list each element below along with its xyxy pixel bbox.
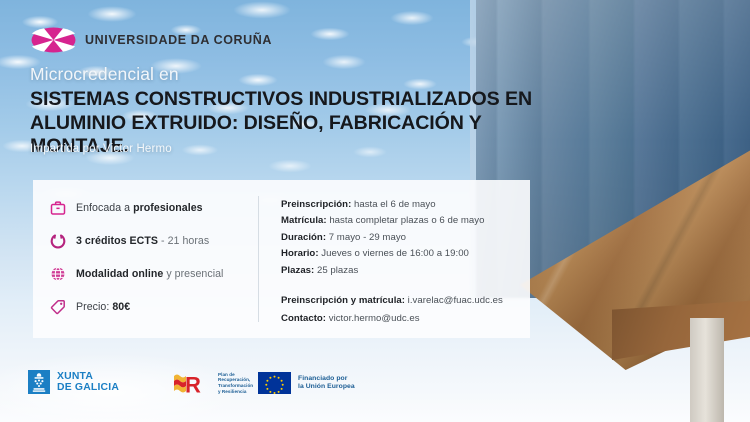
eu-line-1: Financiado por — [298, 375, 355, 383]
schedule-label: Duración: — [281, 232, 326, 243]
schedule-value: hasta el 6 de mayo — [351, 199, 435, 210]
schedule-label: Preinscripción: — [281, 199, 351, 210]
plan-recuperacion-logo: R Plan de Recuperación, Transformación y… — [172, 370, 253, 396]
xunta-coat-of-arms-icon — [28, 370, 50, 394]
svg-text:R: R — [185, 373, 201, 397]
list-item: 3 créditos ECTS - 21 horas — [50, 232, 250, 249]
list-item-label: Precio: 80€ — [76, 301, 130, 313]
feature-text-bold: 80€ — [112, 301, 130, 313]
xunta-de-galicia-logo: XUNTA DE GALICIA — [28, 370, 119, 394]
promotional-poster: UNIVERSIDADE DA CORUÑA Microcredencial e… — [0, 0, 750, 422]
schedule-value: Jueves o viernes de 16:00 a 19:00 — [319, 248, 469, 259]
schedule-label: Plazas: — [281, 265, 314, 276]
price-tag-icon — [50, 299, 66, 315]
list-item-label: Modalidad online y presencial — [76, 268, 223, 280]
list-item-label: Enfocada a profesionales — [76, 202, 203, 214]
contact-label: Preinscripción y matrícula: — [281, 295, 405, 306]
prtr-line-3: Transformación — [218, 383, 253, 389]
kicker-text: Microcredencial en — [30, 64, 179, 85]
feature-text-tail: - 21 horas — [158, 235, 209, 247]
feature-text-plain: Precio: — [76, 301, 112, 313]
spain-government-r-icon: R — [172, 370, 212, 396]
schedule-row: Matrícula: hasta completar plazas o 6 de… — [281, 213, 519, 229]
footer-logos: XUNTA DE GALICIA R Plan de Recuperación,… — [0, 366, 750, 410]
eu-line-2: la Unión Europea — [298, 383, 355, 391]
eu-logo-text: Financiado por la Unión Europea — [298, 375, 355, 392]
european-union-funding-logo: Financiado por la Unión Europea — [258, 372, 355, 394]
feature-text-bold: Modalidad online — [76, 268, 163, 280]
udc-ellipse-logo-icon — [31, 27, 76, 53]
list-item: Modalidad online y presencial — [50, 265, 250, 282]
schedule-value: 7 mayo - 29 mayo — [326, 232, 406, 243]
schedule-value: hasta completar plazas o 6 de mayo — [327, 215, 485, 226]
schedule-row: Preinscripción: hasta el 6 de mayo — [281, 197, 519, 213]
contact-label: Contacto: — [281, 313, 326, 324]
xunta-line-2: DE GALICIA — [57, 382, 119, 394]
globe-icon — [50, 266, 66, 282]
contact-row-enrolment: Preinscripción y matrícula: i.varelac@fu… — [281, 292, 519, 310]
card-column-divider — [258, 196, 259, 322]
contact-row-general: Contacto: victor.hermo@udc.es — [281, 310, 519, 328]
contact-block: Preinscripción y matrícula: i.varelac@fu… — [281, 292, 519, 328]
xunta-line-1: XUNTA — [57, 371, 119, 383]
schedule-row: Horario: Jueves o viernes de 16:00 a 19:… — [281, 246, 519, 262]
feature-list: Enfocada a profesionales 3 créditos ECTS… — [50, 199, 250, 315]
feature-text-plain: Enfocada a — [76, 202, 133, 214]
title-line-1: SISTEMAS CONSTRUCTIVOS INDUSTRIALIZADOS … — [30, 88, 532, 110]
info-card: Enfocada a profesionales 3 créditos ECTS… — [33, 180, 530, 338]
feature-text-tail: y presencial — [163, 268, 223, 280]
schedule-row: Duración: 7 mayo - 29 mayo — [281, 230, 519, 246]
laurel-wreath-icon — [50, 233, 66, 249]
feature-text-bold: 3 créditos ECTS — [76, 235, 158, 247]
schedule-row: Plazas: 25 plazas — [281, 263, 519, 279]
list-item: Precio: 80€ — [50, 298, 250, 315]
contact-email[interactable]: victor.hermo@udc.es — [326, 313, 420, 324]
prtr-line-4: y Resiliencia — [218, 389, 253, 395]
schedule-label: Horario: — [281, 248, 319, 259]
contact-email[interactable]: i.varelac@fuac.udc.es — [405, 295, 503, 306]
udc-logo-text: UNIVERSIDADE DA CORUÑA — [85, 33, 272, 47]
list-item-label: 3 créditos ECTS - 21 horas — [76, 235, 209, 247]
european-union-flag-icon — [258, 372, 291, 394]
schedule-label: Matrícula: — [281, 215, 327, 226]
list-item: Enfocada a profesionales — [50, 199, 250, 216]
feature-text-bold: profesionales — [133, 202, 203, 214]
instructor-byline: Impartida por Victor Hermo — [30, 143, 172, 155]
schedule-list: Preinscripción: hasta el 6 de mayo Matrí… — [281, 197, 519, 328]
schedule-value: 25 plazas — [314, 265, 358, 276]
xunta-logo-text: XUNTA DE GALICIA — [57, 371, 119, 394]
briefcase-icon — [50, 200, 66, 216]
prtr-logo-text: Plan de Recuperación, Transformación y R… — [218, 372, 253, 394]
udc-logo: UNIVERSIDADE DA CORUÑA — [31, 27, 272, 53]
